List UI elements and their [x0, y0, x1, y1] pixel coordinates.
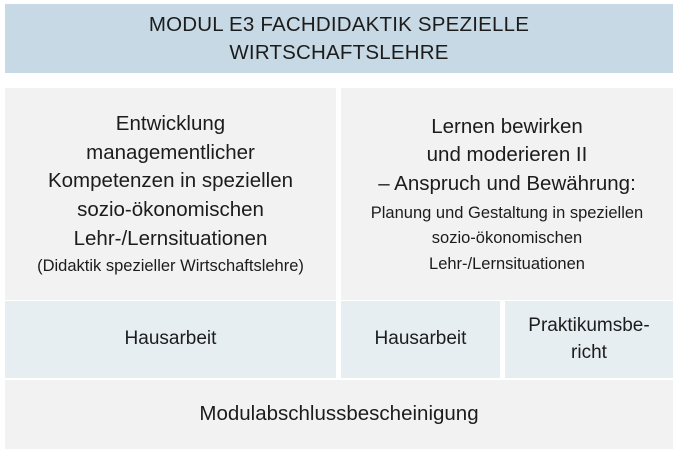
left-course-title: Entwicklung managementlicher Kompetenzen…	[48, 110, 293, 253]
assessment-row: Hausarbeit Hausarbeit Praktikumsbe- rich…	[5, 301, 673, 378]
module-header-band: MODUL E3 FACHDIDAKTIK SPEZIELLE WIRTSCHA…	[5, 4, 673, 73]
assessment-left: Hausarbeit	[5, 301, 336, 378]
course-content-row: Entwicklung managementlicher Kompetenzen…	[5, 88, 673, 300]
right-course-subtitle-line-3: Lehr-/Lernsituationen	[371, 252, 643, 278]
assessment-right-label: Praktikumsbe- richt	[528, 313, 649, 365]
module-title-line-1: MODUL E3 FACHDIDAKTIK SPEZIELLE	[149, 11, 529, 38]
module-title-line-2: WIRTSCHAFTSLEHRE	[149, 39, 529, 66]
left-course-subtitle-line-1: (Didaktik spezieller Wirtschaftslehre)	[37, 254, 304, 280]
left-course-title-line-3: Kompetenzen in speziellen	[48, 167, 293, 196]
left-course-title-line-5: Lehr-/Lernsituationen	[48, 225, 293, 254]
module-overview-table: MODUL E3 FACHDIDAKTIK SPEZIELLE WIRTSCHA…	[0, 0, 678, 449]
module-title: MODUL E3 FACHDIDAKTIK SPEZIELLE WIRTSCHA…	[109, 11, 569, 65]
left-course-title-line-1: Entwicklung	[48, 110, 293, 139]
left-course-title-line-4: sozio-ökonomischen	[48, 196, 293, 225]
left-course-subtitle: (Didaktik spezieller Wirtschaftslehre)	[37, 254, 304, 280]
module-certificate-label: Modulabschlussbescheinigung	[199, 401, 478, 428]
right-course-cell: Lernen bewirken und moderieren II – Ansp…	[341, 88, 673, 300]
left-course-title-line-2: managementlicher	[48, 139, 293, 168]
right-course-title-line-1: Lernen bewirken	[378, 113, 636, 142]
right-course-subtitle-line-2: sozio-ökonomischen	[371, 226, 643, 252]
right-course-title-line-2: und moderieren II	[378, 141, 636, 170]
assessment-right-label-line-1: Praktikumsbe-	[528, 315, 649, 336]
assessment-right-label-line-2: richt	[571, 342, 607, 363]
assessment-right: Praktikumsbe- richt	[505, 301, 673, 378]
assessment-middle: Hausarbeit	[341, 301, 500, 378]
module-certificate-row: Modulabschlussbescheinigung	[5, 380, 673, 449]
right-course-subtitle: Planung und Gestaltung in speziellen soz…	[371, 201, 643, 278]
assessment-middle-label: Hausarbeit	[375, 326, 467, 352]
right-course-title: Lernen bewirken und moderieren II – Ansp…	[378, 113, 636, 199]
assessment-left-label: Hausarbeit	[125, 326, 217, 352]
left-course-cell: Entwicklung managementlicher Kompetenzen…	[5, 88, 336, 300]
right-course-title-line-3: – Anspruch und Bewährung:	[378, 170, 636, 199]
right-course-subtitle-line-1: Planung und Gestaltung in speziellen	[371, 201, 643, 227]
